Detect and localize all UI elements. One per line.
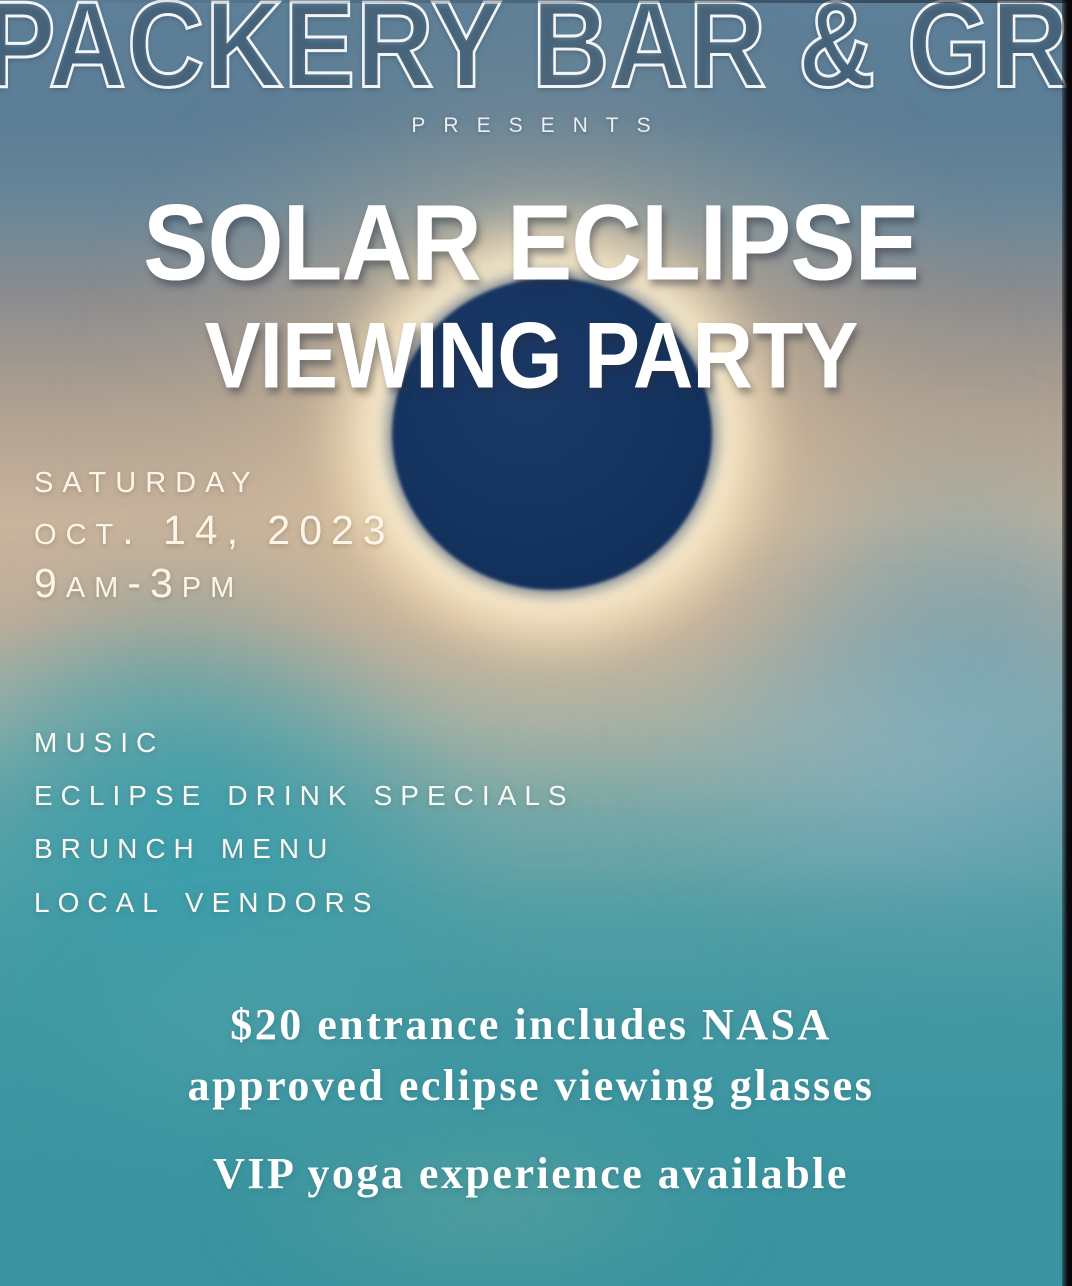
poster-content: PACKERY BAR & GRILL PRESENTS SOLAR ECLIP… xyxy=(0,0,1072,1286)
schedule-day: Saturday xyxy=(34,452,395,504)
poster-right-edge xyxy=(1062,0,1072,1286)
headline-line-1: SOLAR ECLIPSE xyxy=(0,192,1072,295)
vip-note: VIP yoga experience available xyxy=(0,1148,1062,1199)
feature-item: Music xyxy=(34,713,575,766)
feature-item: Eclipse drink specials xyxy=(34,766,575,819)
poster-top-edge xyxy=(0,0,1072,3)
schedule-time: 9am-3pm xyxy=(34,557,395,609)
pricing-line-1: $20 entrance includes NASA xyxy=(0,995,1062,1056)
headline-line-2: VIEWING PARTY xyxy=(0,310,1062,400)
feature-item: Brunch menu xyxy=(34,819,575,872)
schedule-date: Oct. 14, 2023 xyxy=(34,504,395,556)
event-poster: PACKERY BAR & GRILL PRESENTS SOLAR ECLIP… xyxy=(0,0,1072,1286)
feature-item: Local vendors xyxy=(34,873,575,926)
pricing-line-2: approved eclipse viewing glasses xyxy=(0,1056,1062,1117)
venue-title: PACKERY BAR & GRILL xyxy=(0,0,1072,107)
presents-label: PRESENTS xyxy=(0,114,1062,138)
schedule-block: Saturday Oct. 14, 2023 9am-3pm xyxy=(34,452,395,609)
features-list: Music Eclipse drink specials Brunch menu… xyxy=(34,713,575,926)
pricing-block: $20 entrance includes NASA approved ecli… xyxy=(0,995,1062,1116)
